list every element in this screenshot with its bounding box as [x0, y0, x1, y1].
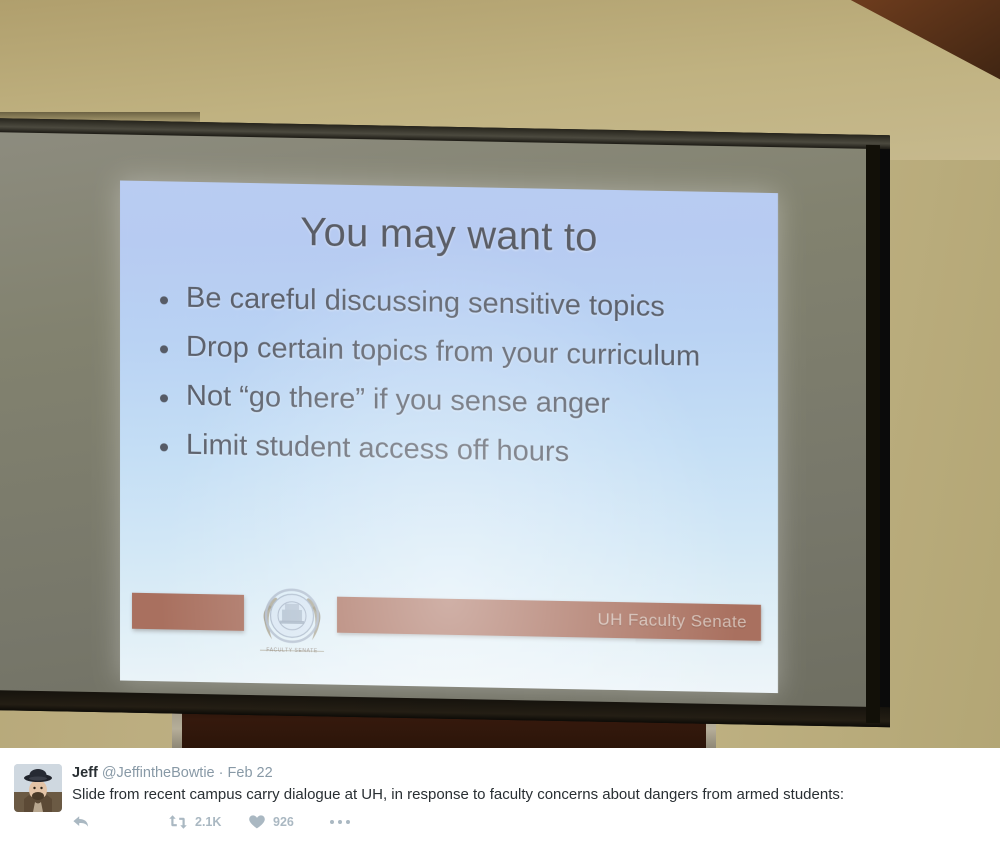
projected-slide: You may want to Be careful discussing se… — [120, 180, 778, 693]
slide-footer-label: UH Faculty Senate — [598, 610, 747, 633]
projector-screen-surface: You may want to Be careful discussing se… — [0, 128, 875, 715]
bullet-dot-icon — [160, 394, 168, 402]
slide-bullet-item: Limit student access off hours — [154, 428, 754, 473]
screen-right-edge — [866, 145, 880, 723]
slide-title: You may want to — [120, 206, 778, 264]
slide-bullet-text: Not “go there” if you sense anger — [186, 380, 610, 420]
slide-bullet-item: Be careful discussing sensitive topics — [154, 281, 754, 326]
heart-icon — [248, 814, 266, 830]
slide-bullet-text: Drop certain topics from your curriculum — [186, 331, 700, 373]
projector-screen: You may want to Be careful discussing se… — [0, 118, 890, 727]
like-button[interactable]: 926 — [248, 814, 328, 830]
slide-bullet-text: Limit student access off hours — [186, 429, 569, 468]
slide-bullet-item: Not “go there” if you sense anger — [154, 379, 754, 424]
slide-bullet-list: Be careful discussing sensitive topics D… — [154, 281, 754, 488]
reply-icon — [72, 814, 90, 830]
slide-footer: FACULTY SENATE UH Faculty Senate — [120, 582, 778, 655]
tweet-text: Slide from recent campus carry dialogue … — [72, 785, 986, 805]
tweet-actions: 2.1K 926 — [72, 814, 986, 830]
tweet-author-name[interactable]: Jeff — [72, 765, 98, 781]
bullet-dot-icon — [160, 296, 168, 304]
tweet-photo[interactable]: You may want to Be careful discussing se… — [0, 0, 1000, 748]
slide-bullet-item: Drop certain topics from your curriculum — [154, 330, 754, 375]
tweet-timestamp[interactable]: Feb 22 — [228, 765, 273, 781]
more-icon — [330, 820, 350, 824]
screenshot-root: You may want to Be careful discussing se… — [0, 0, 1000, 858]
bullet-dot-icon — [160, 443, 168, 451]
slide-footer-bar-right: UH Faculty Senate — [337, 597, 761, 641]
tweet-author-handle[interactable]: @JeffintheBowtie — [102, 765, 215, 781]
slide-bullet-text: Be careful discussing sensitive topics — [186, 282, 665, 323]
uh-faculty-senate-seal-icon: FACULTY SENATE — [246, 581, 338, 657]
bullet-dot-icon — [160, 345, 168, 353]
slide-footer-bar-left — [132, 593, 244, 631]
tweet-meta-separator: · — [219, 765, 224, 781]
tweet-card: Jeff @JeffintheBowtie · Feb 22 Slide fro… — [0, 748, 1000, 858]
retweet-count: 2.1K — [195, 815, 221, 829]
avatar[interactable] — [14, 764, 62, 812]
more-options-button[interactable] — [328, 820, 350, 824]
reply-button[interactable] — [72, 814, 168, 830]
like-count: 926 — [273, 815, 294, 829]
tweet-header: Jeff @JeffintheBowtie · Feb 22 — [72, 764, 986, 782]
retweet-button[interactable]: 2.1K — [168, 814, 248, 830]
retweet-icon — [168, 814, 188, 830]
